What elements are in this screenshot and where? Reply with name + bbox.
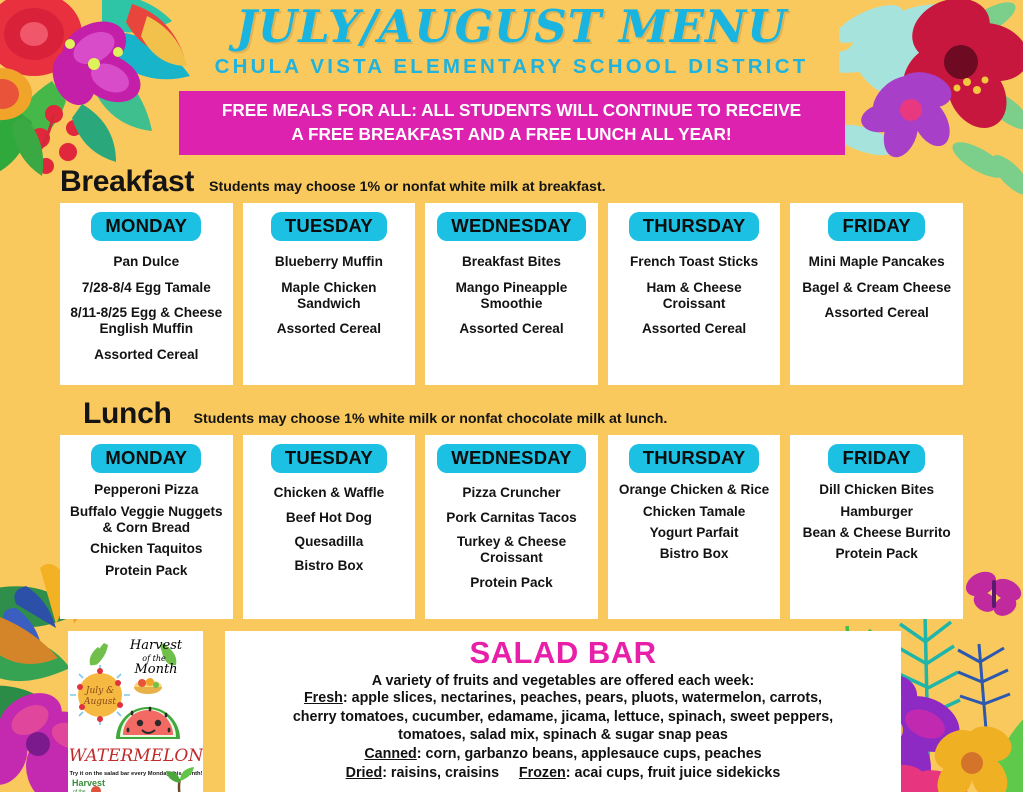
day-label-tuesday: TUESDAY bbox=[271, 444, 387, 473]
day-label-wednesday: WEDNESDAY bbox=[437, 212, 585, 241]
banner-line-1: FREE MEALS FOR ALL: ALL STUDENTS WILL CO… bbox=[189, 99, 835, 123]
day-card-monday: MONDAYPan Dulce7/28-8/4 Egg Tamale8/11-8… bbox=[60, 203, 233, 385]
menu-item-list: Pepperoni PizzaBuffalo Veggie Nuggets & … bbox=[66, 477, 227, 579]
day-card-wednesday: WEDNESDAYBreakfast BitesMango Pineapple … bbox=[425, 203, 598, 385]
bottom-section: Harvest of the Month July & August bbox=[0, 631, 1023, 792]
harvest-card-artwork: Harvest of the Month July & August bbox=[68, 631, 203, 792]
menu-item: Chicken Taquitos bbox=[66, 536, 227, 557]
menu-item: Orange Chicken & Rice bbox=[614, 477, 775, 498]
day-card-thursday: THURSDAYFrench Toast SticksHam & Cheese … bbox=[608, 203, 781, 385]
menu-item: 7/28-8/4 Egg Tamale bbox=[66, 271, 227, 296]
menu-item: Bean & Cheese Burrito bbox=[796, 520, 957, 541]
breakfast-day-cards: MONDAYPan Dulce7/28-8/4 Egg Tamale8/11-8… bbox=[0, 203, 1023, 385]
day-label-friday: FRIDAY bbox=[828, 444, 924, 473]
breakfast-section-header: Breakfast Students may choose 1% or nonf… bbox=[0, 165, 1023, 199]
menu-item: Assorted Cereal bbox=[796, 296, 957, 321]
menu-item: Quesadilla bbox=[249, 526, 410, 550]
menu-item: Blueberry Muffin bbox=[249, 245, 410, 270]
menu-item: Protein Pack bbox=[66, 558, 227, 579]
day-card-wednesday: WEDNESDAYPizza CruncherPork Carnitas Tac… bbox=[425, 435, 598, 619]
menu-item: Ham & Cheese Croissant bbox=[614, 271, 775, 313]
lunch-section-header: Lunch Students may choose 1% white milk … bbox=[0, 397, 1023, 431]
day-card-tuesday: TUESDAYBlueberry MuffinMaple Chicken San… bbox=[243, 203, 416, 385]
frozen-items: : acai cups, fruit juice sidekicks bbox=[566, 765, 781, 781]
menu-item: Protein Pack bbox=[796, 541, 957, 562]
menu-item-list: Blueberry MuffinMaple Chicken SandwichAs… bbox=[249, 245, 410, 337]
menu-item: Yogurt Parfait bbox=[614, 520, 775, 541]
menu-item: Bistro Box bbox=[614, 541, 775, 562]
menu-item: Assorted Cereal bbox=[66, 338, 227, 363]
day-label-monday: MONDAY bbox=[91, 212, 201, 241]
menu-item-list: Dill Chicken BitesHamburgerBean & Cheese… bbox=[796, 477, 957, 562]
salad-bar-canned-line: Canned: corn, garbanzo beans, applesauce… bbox=[233, 746, 893, 764]
breakfast-heading: Breakfast bbox=[60, 165, 194, 199]
menu-item-list: Pan Dulce7/28-8/4 Egg Tamale8/11-8/25 Eg… bbox=[66, 245, 227, 363]
menu-item: Hamburger bbox=[796, 499, 957, 520]
menu-item: Buffalo Veggie Nuggets & Corn Bread bbox=[66, 499, 227, 537]
day-label-tuesday: TUESDAY bbox=[271, 212, 387, 241]
lunch-day-cards: MONDAYPepperoni PizzaBuffalo Veggie Nugg… bbox=[0, 435, 1023, 619]
menu-item: Protein Pack bbox=[431, 567, 592, 591]
menu-item: Dill Chicken Bites bbox=[796, 477, 957, 498]
menu-item: Assorted Cereal bbox=[614, 312, 775, 337]
lunch-heading: Lunch bbox=[83, 397, 172, 431]
harvest-title-line3: Month bbox=[133, 662, 177, 677]
day-label-thursday: THURSDAY bbox=[629, 444, 760, 473]
menu-item: Mini Maple Pancakes bbox=[796, 245, 957, 270]
menu-item-list: Chicken & WaffleBeef Hot DogQuesadillaBi… bbox=[249, 477, 410, 574]
menu-item: Assorted Cereal bbox=[249, 312, 410, 337]
menu-item-list: Breakfast BitesMango Pineapple SmoothieA… bbox=[431, 245, 592, 337]
menu-item: Turkey & Cheese Croissant bbox=[431, 526, 592, 567]
menu-item: Chicken Tamale bbox=[614, 499, 775, 520]
fresh-label: Fresh bbox=[304, 690, 343, 706]
page-title: JULY/AUGUST MENU bbox=[0, 4, 1023, 49]
poster-header: JULY/AUGUST MENU CHULA VISTA ELEMENTARY … bbox=[0, 0, 1023, 79]
day-label-monday: MONDAY bbox=[91, 444, 201, 473]
day-card-tuesday: TUESDAYChicken & WaffleBeef Hot DogQuesa… bbox=[243, 435, 416, 619]
canned-items: : corn, garbanzo beans, applesauce cups,… bbox=[417, 746, 762, 762]
menu-item-list: Pizza CruncherPork Carnitas TacosTurkey … bbox=[431, 477, 592, 591]
menu-item-list: Mini Maple PancakesBagel & Cream CheeseA… bbox=[796, 245, 957, 321]
menu-item: Pizza Cruncher bbox=[431, 477, 592, 501]
salad-bar-panel: SALAD BAR A variety of fruits and vegeta… bbox=[225, 631, 901, 792]
menu-item: Bistro Box bbox=[249, 550, 410, 574]
harvest-produce-name: WATERMELON bbox=[69, 746, 203, 766]
day-label-thursday: THURSDAY bbox=[629, 212, 760, 241]
salad-bar-title: SALAD BAR bbox=[233, 637, 893, 670]
harvest-of-the-month-card: Harvest of the Month July & August bbox=[68, 631, 203, 792]
salad-bar-dried-frozen-line: Dried: raisins, craisins Frozen: acai cu… bbox=[233, 765, 893, 783]
menu-item: 8/11-8/25 Egg & Cheese English Muffin bbox=[66, 296, 227, 338]
banner-line-2: A FREE BREAKFAST AND A FREE LUNCH ALL YE… bbox=[189, 123, 835, 147]
menu-item: Pan Dulce bbox=[66, 245, 227, 270]
day-card-friday: FRIDAYMini Maple PancakesBagel & Cream C… bbox=[790, 203, 963, 385]
harvest-logo-line1: Harvest bbox=[72, 778, 105, 788]
menu-item-list: Orange Chicken & RiceChicken TamaleYogur… bbox=[614, 477, 775, 562]
menu-item: Maple Chicken Sandwich bbox=[249, 271, 410, 313]
salad-bar-fresh-line-2: cherry tomatoes, cucumber, edamame, jica… bbox=[233, 709, 893, 727]
menu-item: Assorted Cereal bbox=[431, 312, 592, 337]
day-card-friday: FRIDAYDill Chicken BitesHamburgerBean & … bbox=[790, 435, 963, 619]
free-meals-banner: FREE MEALS FOR ALL: ALL STUDENTS WILL CO… bbox=[179, 91, 845, 155]
menu-item: Breakfast Bites bbox=[431, 245, 592, 270]
menu-item: Pork Carnitas Tacos bbox=[431, 502, 592, 526]
menu-item: Pepperoni Pizza bbox=[66, 477, 227, 498]
salad-bar-fresh-line-1: Fresh: apple slices, nectarines, peaches… bbox=[233, 690, 893, 708]
day-card-monday: MONDAYPepperoni PizzaBuffalo Veggie Nugg… bbox=[60, 435, 233, 619]
harvest-title-line1: Harvest bbox=[129, 638, 183, 653]
salad-bar-fresh-line-3: tomatoes, salad mix, spinach & sugar sna… bbox=[233, 727, 893, 745]
day-label-friday: FRIDAY bbox=[828, 212, 924, 241]
menu-item: Bagel & Cream Cheese bbox=[796, 271, 957, 296]
harvest-season-line1: July & bbox=[84, 686, 114, 696]
menu-item: French Toast Sticks bbox=[614, 245, 775, 270]
canned-label: Canned bbox=[364, 746, 416, 762]
day-card-thursday: THURSDAYOrange Chicken & RiceChicken Tam… bbox=[608, 435, 781, 619]
menu-item-list: French Toast SticksHam & Cheese Croissan… bbox=[614, 245, 775, 337]
dried-items: : raisins, craisins bbox=[382, 765, 499, 781]
salad-bar-lead: A variety of fruits and vegetables are o… bbox=[233, 673, 893, 689]
frozen-label: Frozen bbox=[519, 765, 566, 781]
menu-item: Chicken & Waffle bbox=[249, 477, 410, 501]
district-subtitle: CHULA VISTA ELEMENTARY SCHOOL DISTRICT bbox=[0, 55, 1023, 79]
fresh-items-1: : apple slices, nectarines, peaches, pea… bbox=[343, 690, 822, 706]
breakfast-milk-note: Students may choose 1% or nonfat white m… bbox=[209, 179, 606, 195]
menu-item: Mango Pineapple Smoothie bbox=[431, 271, 592, 313]
day-label-wednesday: WEDNESDAY bbox=[437, 444, 585, 473]
lunch-milk-note: Students may choose 1% white milk or non… bbox=[194, 411, 668, 427]
dried-label: Dried bbox=[346, 765, 383, 781]
harvest-season-line2: August bbox=[83, 697, 116, 707]
menu-item: Beef Hot Dog bbox=[249, 502, 410, 526]
